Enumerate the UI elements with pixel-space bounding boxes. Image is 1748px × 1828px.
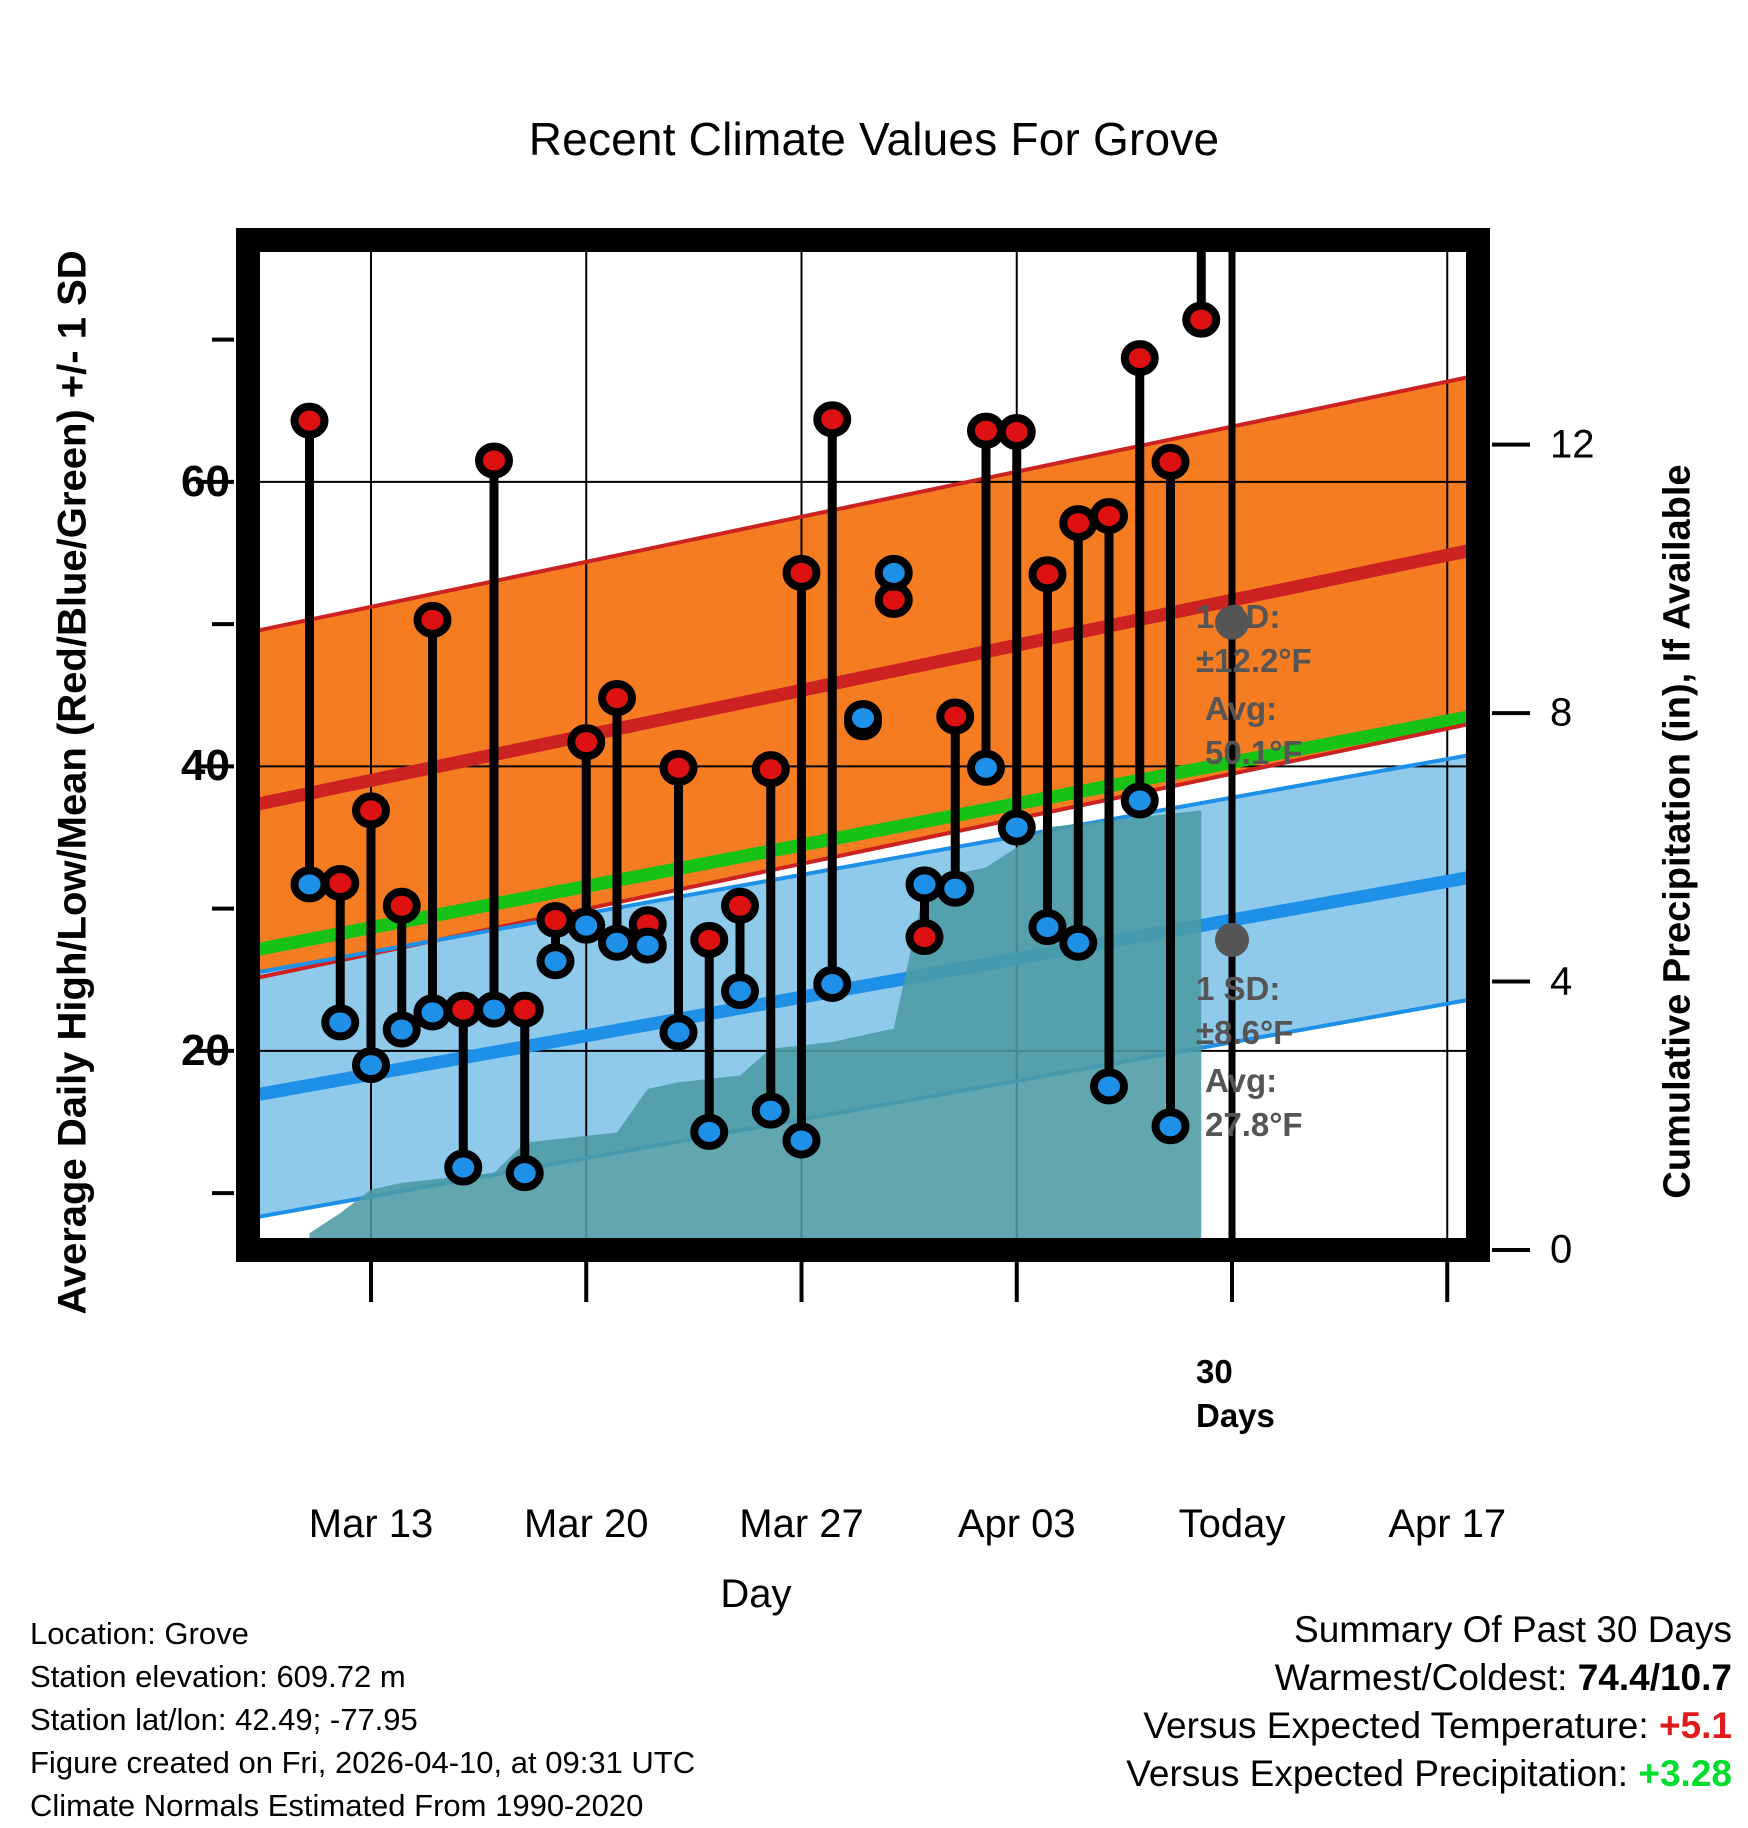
- summary-row-temperature: Versus Expected Temperature: +5.1: [1126, 1702, 1732, 1750]
- observation-marker-high: [479, 446, 509, 474]
- observation-marker-low: [1094, 1072, 1124, 1100]
- observation-marker-high: [1033, 560, 1063, 588]
- x-tick-label: Apr 03: [958, 1502, 1076, 1547]
- observation-marker-high: [602, 684, 632, 712]
- summary-heading: Summary Of Past 30 Days: [1126, 1606, 1732, 1654]
- observation-marker-low: [1125, 786, 1155, 814]
- metadata-elevation: Station elevation: 609.72 m: [30, 1655, 695, 1698]
- y-tick-label: 40: [120, 741, 230, 791]
- observation-marker-low: [387, 1016, 417, 1044]
- x-tick-label: Mar 20: [524, 1502, 649, 1547]
- observation-marker-high: [694, 926, 724, 954]
- high-avg-value: 50.1°F: [1205, 734, 1303, 771]
- observation-marker-low: [295, 870, 325, 898]
- observation-marker-low: [1156, 1112, 1186, 1140]
- observation-marker-high: [1063, 509, 1093, 537]
- y-tick-label: 60: [120, 457, 230, 507]
- observation-marker-low: [479, 996, 509, 1024]
- observation-marker-low: [725, 977, 755, 1005]
- high-avg-label: Avg:: [1205, 690, 1277, 727]
- observation-marker-high: [940, 703, 970, 731]
- summary-value-temperature: +5.1: [1659, 1705, 1732, 1746]
- today-low-normal-marker: [1215, 923, 1249, 957]
- high-sd-label: 1 SD:: [1196, 598, 1280, 635]
- observation-marker-low: [787, 1126, 817, 1154]
- observation-marker-high: [295, 407, 325, 435]
- high-sd-value: ±12.2°F: [1196, 642, 1312, 679]
- y-tick-label: 20: [120, 1026, 230, 1076]
- window-days-number: 30: [1196, 1353, 1233, 1390]
- observation-marker-low: [418, 998, 448, 1026]
- observation-marker-high: [971, 417, 1001, 445]
- summary-value-warmest-coldest: 74.4/10.7: [1578, 1657, 1732, 1698]
- observation-marker-high: [1094, 502, 1124, 530]
- summary-label-precipitation: Versus Expected Precipitation:: [1126, 1753, 1628, 1794]
- observation-marker-low: [879, 559, 909, 587]
- x-tick-label: Mar 27: [739, 1502, 864, 1547]
- y-tick-label-right: 4: [1550, 959, 1572, 1004]
- observation-marker-low: [571, 912, 601, 940]
- observation-marker-high: [571, 728, 601, 756]
- metadata-location: Location: Grove: [30, 1612, 695, 1655]
- summary-label-warmest-coldest: Warmest/Coldest:: [1275, 1657, 1568, 1698]
- observation-marker-high: [418, 606, 448, 634]
- summary-row-warmest-coldest: Warmest/Coldest: 74.4/10.7: [1126, 1654, 1732, 1702]
- y-tick-label-right: 0: [1550, 1228, 1572, 1273]
- low-sd-value: ±8.6°F: [1196, 1014, 1293, 1051]
- low-sd-label: 1 SD:: [1196, 970, 1280, 1007]
- observation-marker-high: [1002, 418, 1032, 446]
- observation-marker-low: [848, 704, 878, 732]
- x-tick-label: Today: [1179, 1502, 1286, 1547]
- metadata-normals: Climate Normals Estimated From 1990-2020: [30, 1784, 695, 1827]
- x-tick-label: Mar 13: [309, 1502, 434, 1547]
- observation-marker-low: [1063, 929, 1093, 957]
- observation-marker-low: [1033, 913, 1063, 941]
- observation-marker-low: [817, 970, 847, 998]
- summary-panel: Summary Of Past 30 Days Warmest/Coldest:…: [1126, 1606, 1732, 1798]
- observation-marker-low: [664, 1018, 694, 1046]
- y-tick-label-right: 8: [1550, 691, 1572, 736]
- observation-marker-high: [510, 996, 540, 1024]
- observation-marker-low: [510, 1159, 540, 1187]
- climate-plot: 1 SD: ±12.2°F Avg: 50.1°F 1 SD: ±8.6°F A…: [0, 0, 1748, 1828]
- figure-metadata: Location: Grove Station elevation: 609.7…: [30, 1612, 695, 1827]
- window-days-word: Days: [1196, 1397, 1275, 1434]
- observation-marker-high: [787, 559, 817, 587]
- observation-marker-low: [1186, 0, 1216, 14]
- low-avg-value: 27.8°F: [1205, 1106, 1303, 1143]
- observation-marker-high: [325, 869, 355, 897]
- observation-marker-low: [633, 932, 663, 960]
- observation-marker-high: [664, 754, 694, 782]
- observation-marker-high: [1156, 448, 1186, 476]
- observation-marker-high: [1186, 306, 1216, 334]
- observation-marker-high: [910, 923, 940, 951]
- observation-marker-low: [971, 754, 1001, 782]
- observation-marker-high: [387, 892, 417, 920]
- observation-marker-high: [356, 796, 386, 824]
- observation-marker-low: [694, 1118, 724, 1146]
- summary-label-temperature: Versus Expected Temperature:: [1143, 1705, 1648, 1746]
- observation-marker-high: [448, 996, 478, 1024]
- observation-marker-high: [1125, 344, 1155, 372]
- observation-marker-low: [448, 1153, 478, 1181]
- observation-marker-high: [541, 906, 571, 934]
- observation-marker-low: [910, 870, 940, 898]
- observation-marker-low: [756, 1097, 786, 1125]
- observation-marker-high: [725, 892, 755, 920]
- observation-marker-low: [940, 875, 970, 903]
- observation-marker-high: [756, 755, 786, 783]
- observation-marker-low: [356, 1051, 386, 1079]
- y-tick-label-right: 12: [1550, 422, 1595, 467]
- summary-row-precipitation: Versus Expected Precipitation: +3.28: [1126, 1750, 1732, 1798]
- metadata-latlon: Station lat/lon: 42.49; -77.95: [30, 1698, 695, 1741]
- observation-marker-low: [541, 947, 571, 975]
- low-avg-label: Avg:: [1205, 1062, 1277, 1099]
- observation-marker-low: [1002, 814, 1032, 842]
- observation-marker-high: [817, 405, 847, 433]
- observation-marker-low: [325, 1008, 355, 1036]
- observation-marker-low: [602, 929, 632, 957]
- x-tick-label: Apr 17: [1388, 1502, 1506, 1547]
- metadata-created: Figure created on Fri, 2026-04-10, at 09…: [30, 1741, 695, 1784]
- summary-value-precipitation: +3.28: [1638, 1753, 1732, 1794]
